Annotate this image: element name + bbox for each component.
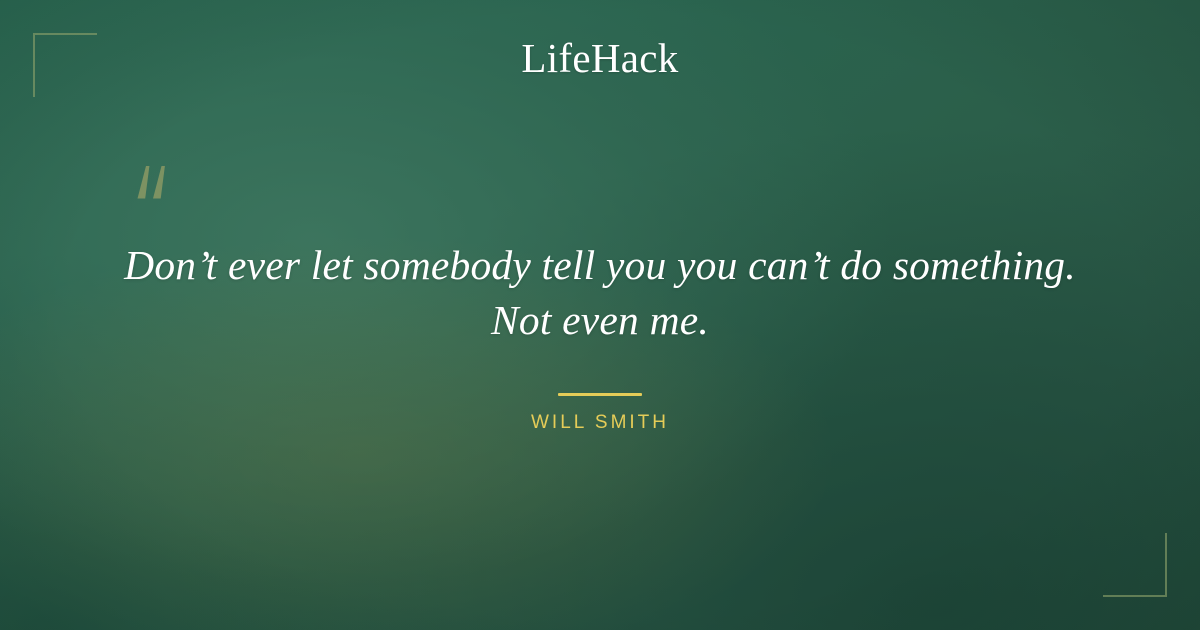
corner-bracket-bottom-right	[1103, 533, 1167, 597]
quote-block: Don’t ever let somebody tell you you can…	[100, 238, 1100, 348]
double-quote-icon	[127, 158, 187, 218]
gold-divider-rule	[558, 393, 642, 396]
quote-text: Don’t ever let somebody tell you you can…	[100, 238, 1100, 348]
lifehack-logo: LifeHack	[0, 38, 1200, 79]
divider-container	[0, 383, 1200, 401]
quote-author: WILL SMITH	[0, 412, 1200, 435]
quote-card: LifeHack Don’t ever let somebody tell yo…	[0, 0, 1200, 630]
